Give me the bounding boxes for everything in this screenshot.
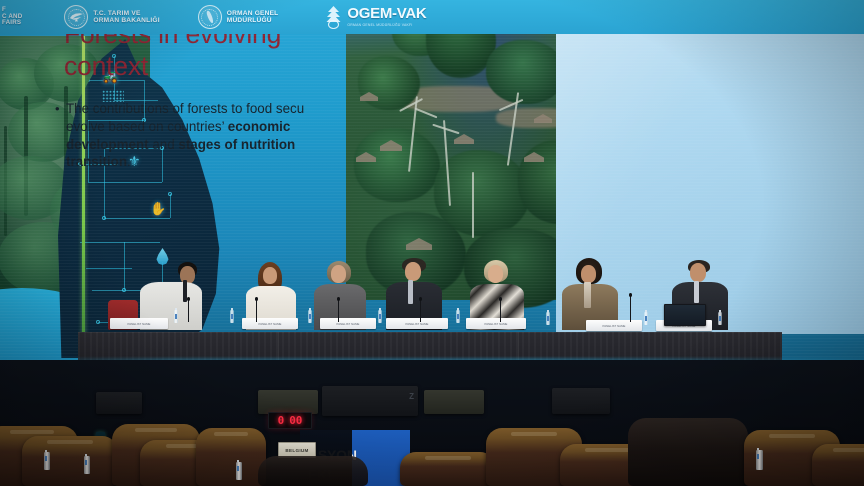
microphone	[338, 300, 339, 322]
leaf-vein	[82, 36, 85, 358]
stage-monitor-far-right	[552, 388, 610, 414]
tree-icon	[324, 5, 343, 29]
water-bottle	[44, 452, 50, 470]
ministry-line-3: FAIRS	[2, 20, 22, 27]
microphone	[256, 300, 257, 322]
microphone	[188, 300, 189, 322]
laptop	[664, 304, 706, 326]
stage-monitor-right	[424, 390, 484, 414]
microphone	[500, 300, 501, 322]
timer-digit-left: 0	[278, 415, 285, 426]
water-bottle	[230, 310, 234, 323]
forestry-seal-icon	[198, 5, 222, 29]
turkish-crescent-seal-icon: ★	[64, 5, 88, 29]
nameplate-seat-2: PANELIST NAME	[242, 318, 298, 329]
water-bottle	[456, 310, 460, 323]
ogem-vak-wordmark: OGEM-VAK	[347, 6, 426, 21]
water-bottle	[174, 310, 178, 323]
bullet-seg-2: evolve based on countries’	[66, 119, 228, 134]
stage-monitor-left	[258, 390, 318, 414]
ministry-of-affairs-logo: F C AND FAIRS	[0, 7, 28, 28]
countdown-timer: 0 00	[268, 412, 312, 429]
stage-monitor-far-left	[96, 392, 142, 414]
bakanlik-line-1: T.C. TARIM VE	[93, 10, 159, 17]
stage-monitor-center: Z	[322, 386, 418, 416]
slide-bullet: • The contributions of forests to food s…	[66, 100, 326, 171]
nameplate-seat-4: PANELIST NAME	[386, 318, 448, 329]
bullet-seg-1: The contributions of forests to food sec…	[66, 101, 304, 116]
audience-chair	[628, 418, 748, 486]
audience-chair	[400, 452, 496, 486]
nameplate-seat-1: PANELIST NAME	[110, 318, 168, 329]
ogem-vak-logo: OGEM-VAK ORMAN GENEL MÜDÜRLÜĞÜ VAKFI	[316, 5, 426, 29]
timer-digit-right: 00	[289, 415, 302, 426]
water-bottle	[84, 456, 90, 474]
ogm-line-1: ORMAN GENEL	[227, 10, 279, 17]
nameplate-seat-3: PANELIST NAME	[320, 318, 376, 329]
audience-chair	[22, 436, 118, 486]
water-bottle	[378, 310, 382, 323]
audience-chair	[258, 456, 368, 486]
water-bottle	[236, 462, 242, 480]
water-bottle	[718, 312, 722, 325]
orman-genel-mudurlugu-logo: ORMAN GENEL MÜDÜRLÜĞÜ	[192, 5, 285, 29]
bullet-marker: •	[55, 100, 60, 117]
ogm-line-2: MÜDÜRLÜĞÜ	[227, 17, 279, 24]
audience-chair	[812, 444, 864, 486]
microphone	[420, 300, 421, 322]
bullet-seg-4: and	[149, 137, 179, 152]
water-bottle	[546, 312, 550, 325]
nameplate-seat-6: PANELIST NAME	[586, 320, 642, 331]
bullet-seg-6: .	[127, 154, 131, 169]
water-bottle	[756, 450, 763, 470]
microphone	[630, 296, 631, 322]
tarim-orman-bakanligi-logo: ★ T.C. TARIM VE ORMAN BAKANLIĞI	[58, 5, 165, 29]
water-bottle	[644, 312, 648, 325]
water-bottle	[308, 310, 312, 323]
bakanlik-line-2: ORMAN BAKANLIĞI	[93, 17, 159, 24]
audience-chair	[196, 428, 266, 486]
nameplate-seat-5: PANELIST NAME	[466, 318, 526, 329]
ogem-vak-subtitle: ORMAN GENEL MÜDÜRLÜĞÜ VAKFI	[347, 23, 426, 28]
conference-panel-screenshot: 🚜 ⚜ ✋	[0, 0, 864, 486]
sponsor-logo-bar: F C AND FAIRS ★ T.C. TARIM VE ORMAN BAKA…	[0, 0, 864, 34]
water-droplet-icon	[156, 248, 169, 265]
smart-hand-icon: ✋	[150, 202, 166, 215]
